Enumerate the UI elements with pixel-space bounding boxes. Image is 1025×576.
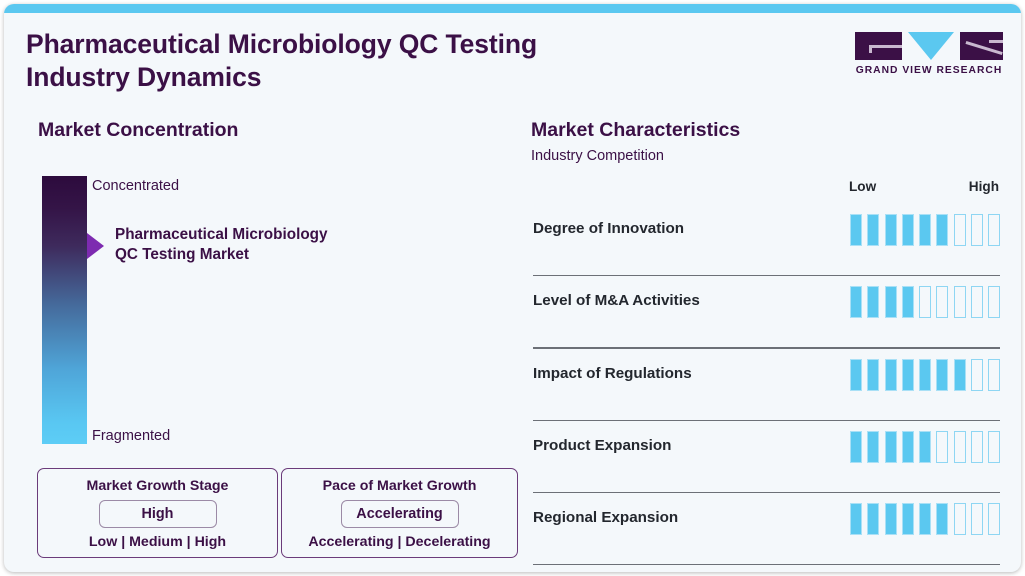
characteristics-scale-labels: Low High (849, 179, 999, 197)
market-position-label-line2: QC Testing Market (115, 245, 385, 265)
rating-segment-empty (971, 359, 983, 391)
rating-segment-filled (885, 359, 897, 391)
rating-segment-empty (919, 286, 931, 318)
rating-segment-empty (954, 503, 966, 535)
pace-of-market-growth-title: Pace of Market Growth (282, 478, 517, 494)
rating-segment-filled (936, 503, 948, 535)
characteristic-row: Product Expansion (533, 421, 1000, 493)
rating-segment-filled (919, 214, 931, 246)
rating-segment-filled (902, 503, 914, 535)
market-characteristics-subheading: Industry Competition (531, 148, 664, 164)
rating-segment-filled (850, 286, 862, 318)
rating-segment-empty (971, 286, 983, 318)
rating-segment-empty (971, 431, 983, 463)
rating-segment-filled (919, 431, 931, 463)
characteristic-label: Product Expansion (533, 437, 671, 454)
rating-segment-empty (971, 214, 983, 246)
market-position-label: Pharmaceutical Microbiology QC Testing M… (115, 225, 385, 266)
characteristic-row: Level of M&A Activities (533, 276, 1000, 348)
rating-segment-filled (902, 431, 914, 463)
rating-segment-filled (885, 503, 897, 535)
rating-segment-filled (936, 214, 948, 246)
rating-segment-empty (936, 431, 948, 463)
rating-segment-empty (988, 359, 1000, 391)
rating-segment-filled (885, 431, 897, 463)
rating-segment-filled (867, 359, 879, 391)
rating-segment-empty (988, 214, 1000, 246)
logo-right-block-icon (960, 32, 1003, 60)
rating-segment-filled (867, 503, 879, 535)
characteristic-label: Degree of Innovation (533, 220, 684, 237)
rating-segment-filled (850, 359, 862, 391)
top-accent-bar (4, 4, 1021, 13)
rating-segment-empty (988, 431, 1000, 463)
characteristic-label: Level of M&A Activities (533, 292, 700, 309)
rating-segment-empty (971, 503, 983, 535)
market-growth-stage-box: Market Growth Stage High Low | Medium | … (37, 468, 278, 558)
rating-segment-filled (850, 431, 862, 463)
characteristic-row: Impact of Regulations (533, 349, 1000, 421)
characteristics-rows: Degree of InnovationLevel of M&A Activit… (533, 204, 1000, 565)
characteristic-rating-bars (850, 214, 1000, 246)
rating-segment-empty (936, 286, 948, 318)
concentration-bottom-label: Fragmented (92, 428, 170, 444)
rating-segment-empty (988, 503, 1000, 535)
characteristic-rating-bars (850, 359, 1000, 391)
rating-segment-filled (919, 359, 931, 391)
rating-segment-filled (954, 359, 966, 391)
rating-segment-filled (867, 431, 879, 463)
characteristic-row: Degree of Innovation (533, 204, 1000, 276)
grand-view-research-logo: GRAND VIEW RESEARCH (855, 32, 1003, 84)
characteristic-row: Regional Expansion (533, 493, 1000, 565)
concentration-gradient-scale (42, 176, 87, 444)
page-title-line2: Industry Dynamics (26, 61, 666, 94)
characteristic-rating-bars (850, 503, 1000, 535)
characteristic-rating-bars (850, 286, 1000, 318)
rating-segment-filled (902, 286, 914, 318)
logo-left-block-icon (855, 32, 902, 60)
scale-high-label: High (969, 179, 999, 194)
rating-segment-filled (850, 503, 862, 535)
rating-segment-empty (988, 286, 1000, 318)
page-title-line1: Pharmaceutical Microbiology QC Testing (26, 29, 537, 59)
pace-of-market-growth-value: Accelerating (341, 500, 459, 528)
rating-segment-filled (885, 214, 897, 246)
pace-of-market-growth-box: Pace of Market Growth Accelerating Accel… (281, 468, 518, 558)
market-characteristics-heading: Market Characteristics (531, 119, 740, 142)
logo-marks (855, 32, 1003, 60)
characteristic-label: Impact of Regulations (533, 365, 692, 382)
logo-triangle-icon (908, 32, 954, 60)
characteristic-rating-bars (850, 431, 1000, 463)
scale-low-label: Low (849, 179, 876, 194)
row-divider (533, 564, 1000, 565)
market-growth-stage-value: High (99, 500, 217, 528)
concentration-top-label: Concentrated (92, 178, 179, 194)
rating-segment-filled (885, 286, 897, 318)
market-growth-stage-title: Market Growth Stage (38, 478, 277, 494)
logo-wordmark: GRAND VIEW RESEARCH (855, 65, 1003, 76)
rating-segment-filled (936, 359, 948, 391)
rating-segment-filled (919, 503, 931, 535)
rating-segment-filled (867, 286, 879, 318)
market-position-label-line1: Pharmaceutical Microbiology (115, 226, 328, 243)
rating-segment-empty (954, 286, 966, 318)
pace-of-market-growth-scale: Accelerating | Decelerating (282, 534, 517, 550)
infographic-card: Pharmaceutical Microbiology QC Testing I… (4, 4, 1021, 572)
rating-segment-filled (867, 214, 879, 246)
rating-segment-empty (954, 214, 966, 246)
rating-segment-filled (850, 214, 862, 246)
market-concentration-heading: Market Concentration (38, 119, 238, 142)
market-growth-stage-scale: Low | Medium | High (38, 534, 277, 550)
market-position-pointer-icon (87, 233, 104, 259)
rating-segment-filled (902, 359, 914, 391)
rating-segment-filled (902, 214, 914, 246)
page-title: Pharmaceutical Microbiology QC Testing I… (26, 28, 666, 94)
rating-segment-empty (954, 431, 966, 463)
characteristic-label: Regional Expansion (533, 509, 678, 526)
